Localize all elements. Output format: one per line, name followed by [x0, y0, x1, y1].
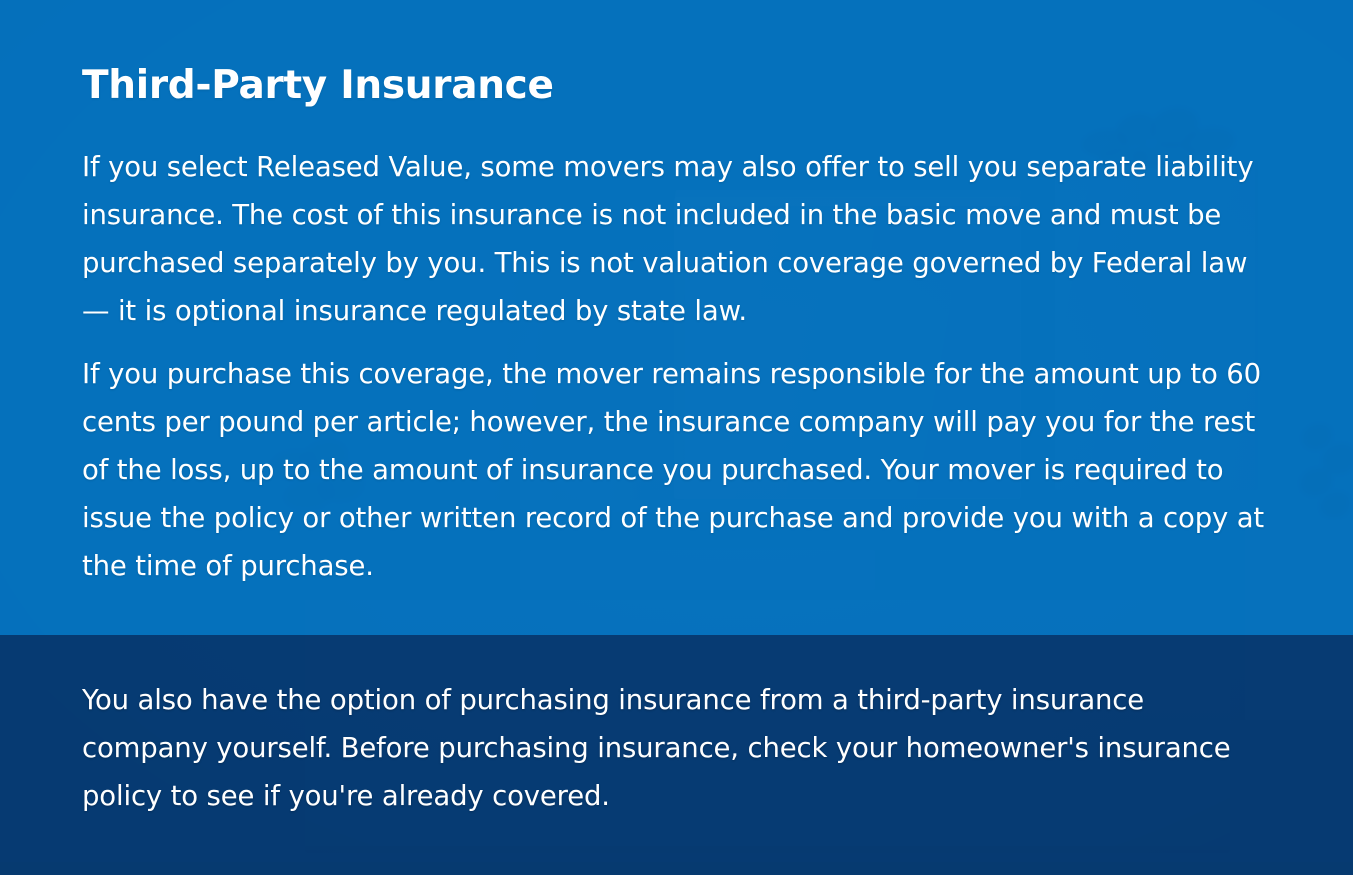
top-section-content: Third-Party Insurance If you select Rele…: [0, 0, 1353, 635]
bottom-paragraph-1: You also have the option of purchasing i…: [82, 676, 1242, 820]
bottom-section-content: You also have the option of purchasing i…: [0, 635, 1353, 875]
top-paragraph-2: If you purchase this coverage, the mover…: [82, 350, 1271, 590]
top-paragraph-1: If you select Released Value, some mover…: [82, 143, 1271, 335]
third-party-insurance-panel: Third-Party Insurance If you select Rele…: [0, 0, 1353, 875]
page-title: Third-Party Insurance: [82, 64, 1271, 109]
